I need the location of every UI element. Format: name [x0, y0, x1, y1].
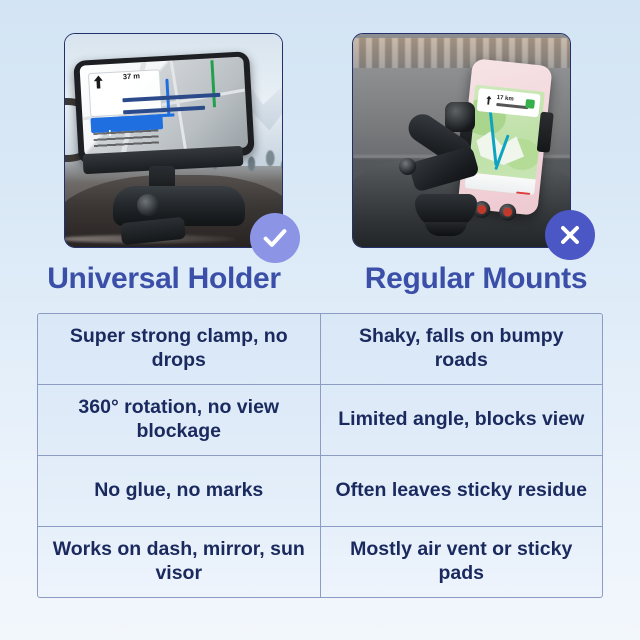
table-cell-universal-1: Super strong clamp, no drops [38, 314, 321, 384]
ball-joint-shape [445, 102, 475, 132]
scene-dashboard-clamp: 37 m [65, 34, 282, 247]
heading-regular-mounts: Regular Mounts [332, 262, 620, 296]
adjustment-knob-shape [137, 194, 159, 216]
x-badge [545, 210, 595, 260]
table-cell-regular-4: Mostly air vent or sticky pads [321, 527, 603, 597]
heading-universal-holder: Universal Holder [20, 262, 308, 296]
check-icon [260, 223, 290, 253]
arm-pivot-shape [399, 158, 416, 175]
scene-suction-mount: 17 km [353, 34, 570, 247]
close-icon [556, 221, 584, 249]
table-cell-regular-2: Limited angle, blocks view [321, 385, 603, 455]
product-image-universal-holder: 37 m [64, 33, 283, 248]
turn-arrow-icon [485, 95, 492, 105]
table-cell-regular-3: Often leaves sticky residue [321, 456, 603, 526]
phone-screen-navigation: 37 m [80, 56, 249, 156]
table-cell-universal-2: 360° rotation, no view blockage [38, 385, 321, 455]
table-cell-universal-3: No glue, no marks [38, 456, 321, 526]
table-row: Super strong clamp, no drops Shaky, fall… [38, 314, 602, 385]
table-row: Works on dash, mirror, sun visor Mostly … [38, 527, 602, 597]
map-route-green [211, 60, 216, 107]
navigation-street-line [496, 103, 528, 109]
table-cell-regular-1: Shaky, falls on bumpy roads [321, 314, 603, 384]
navigation-detail-text [93, 130, 159, 148]
phone-screen-navigation: 17 km [464, 85, 544, 196]
navigation-distance: 17 km [496, 95, 514, 103]
table-row: 360° rotation, no view blockage Limited … [38, 385, 602, 456]
navigation-end-button [516, 192, 530, 195]
table-row: No glue, no marks Often leaves sticky re… [38, 456, 602, 527]
product-image-regular-mounts: 17 km [352, 33, 571, 248]
phone-device: 17 km [457, 58, 552, 216]
comparison-table: Super strong clamp, no drops Shaky, fall… [37, 313, 603, 598]
navigation-status-badge [526, 99, 536, 109]
table-cell-universal-4: Works on dash, mirror, sun visor [38, 527, 321, 597]
check-badge [250, 213, 300, 263]
navigation-distance: 37 m [123, 71, 141, 81]
